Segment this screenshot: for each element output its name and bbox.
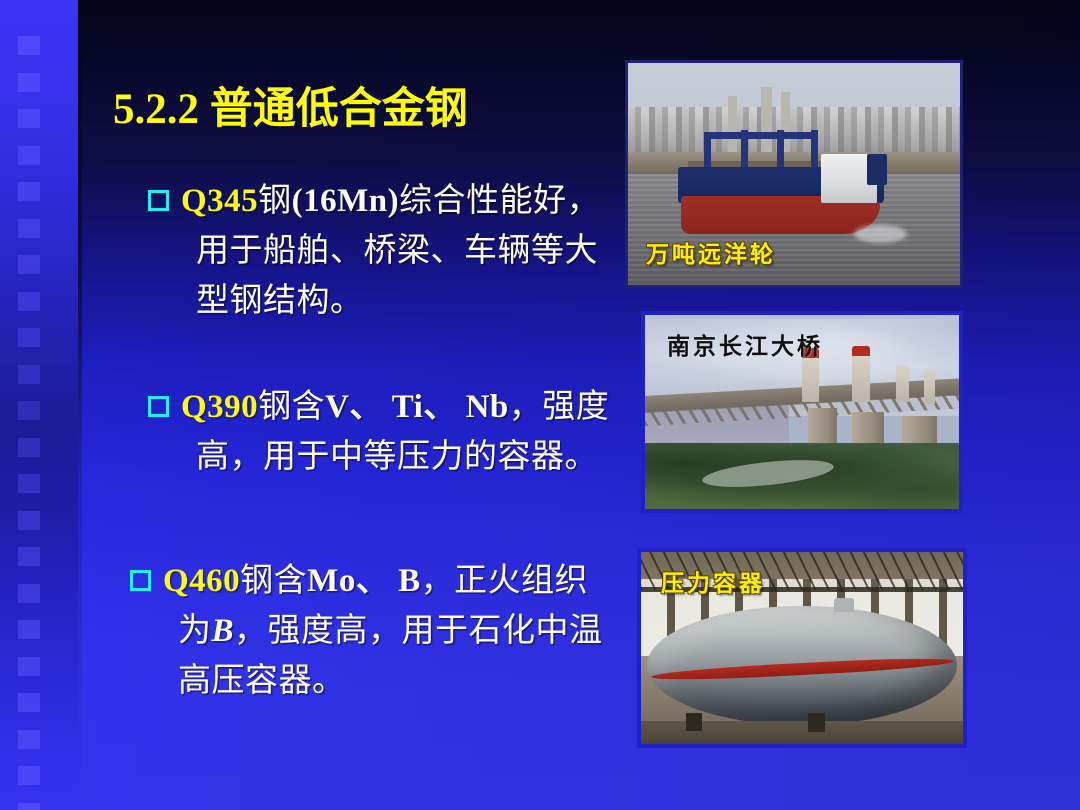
sidebar-square: [18, 182, 40, 201]
sidebar-square: [18, 365, 40, 384]
presentation-slide: 5.2.2 普通低合金钢 Q345钢(16Mn)综合性能好， 用于船舶、桥梁、车…: [0, 0, 1080, 810]
building: [761, 87, 772, 154]
bullet-text: ，正火组织: [421, 563, 589, 599]
ship-crane-boom: [704, 132, 814, 139]
sidebar-square: [18, 73, 40, 92]
sidebar-square: [18, 474, 40, 493]
sidebar-square: [18, 803, 40, 810]
steel-code-q390: Q390: [181, 389, 258, 425]
bullet-item-q345: Q345钢(16Mn)综合性能好， 用于船舶、桥梁、车辆等大 型钢结构。: [148, 176, 600, 326]
sidebar-square: [18, 657, 40, 676]
bullet-line: 型钢结构。: [148, 276, 600, 326]
bridge-pylon-far: [924, 369, 935, 404]
bullet-text-latin: V、 Ti、 Nb: [325, 389, 509, 425]
bullet-line: 高，用于中等压力的容器。: [148, 432, 609, 482]
sidebar-square: [18, 620, 40, 639]
pylon-red-top: [852, 346, 869, 356]
bridge-pylon: [802, 356, 819, 403]
bullet-line: 高压容器。: [130, 656, 603, 706]
sidebar-square: [18, 109, 40, 128]
bullet-text: 综合性能好，: [399, 183, 600, 219]
bullet-text: 钢: [258, 183, 292, 219]
bullet-line: Q345钢(16Mn)综合性能好，: [148, 176, 600, 226]
page-title: 5.2.2 普通低合金钢: [113, 86, 468, 133]
bullet-line: 用于船舶、桥梁、车辆等大: [148, 226, 600, 276]
photo-caption-vessel: 压力容器: [661, 564, 765, 598]
sidebar-square: [18, 730, 40, 749]
sidebar-square: [18, 219, 40, 238]
bullet-text: 钢含: [240, 563, 307, 599]
bullet-line: Q460钢含Mo、 B，正火组织: [130, 556, 603, 606]
sidebar-square: [18, 146, 40, 165]
bullet-text-italic: B: [212, 613, 235, 649]
bullet-text-latin: Mo、 B: [307, 563, 420, 599]
photo-nanjing-yangtze-bridge: 南京长江大桥: [641, 311, 963, 513]
sidebar-square: [18, 693, 40, 712]
sidebar-square: [18, 511, 40, 530]
sidebar-divider: [78, 0, 82, 810]
bullet-line: Q390钢含V、 Ti、 Nb，强度: [148, 382, 609, 432]
bullet-text-latin: (16Mn): [292, 183, 399, 219]
ship-funnel: [867, 154, 887, 185]
bullet-text: 为: [178, 613, 212, 649]
bullet-item-q390: Q390钢含V、 Ti、 Nb，强度 高，用于中等压力的容器。: [148, 382, 609, 482]
sidebar-square: [18, 36, 40, 55]
bullet-text: ，强度: [509, 389, 610, 425]
bullet-square-icon: [148, 396, 169, 417]
bullet-square-icon: [130, 570, 151, 591]
bullet-item-q460: Q460钢含Mo、 B，正火组织 为B，强度高，用于石化中温 高压容器。: [130, 556, 603, 706]
photo-ocean-cargo-ship: 万吨远洋轮: [625, 60, 963, 288]
bow-wave: [854, 225, 907, 243]
steel-code-q460: Q460: [163, 563, 240, 599]
tank-support: [808, 713, 824, 732]
photo-caption-bridge: 南京长江大桥: [667, 327, 823, 361]
sidebar-square-decoration: [18, 0, 40, 810]
photo-caption-ship: 万吨远洋轮: [646, 235, 776, 269]
sidebar-square: [18, 547, 40, 566]
sidebar-square: [18, 766, 40, 785]
sidebar-square: [18, 292, 40, 311]
sidebar-square: [18, 255, 40, 274]
steel-code-q345: Q345: [181, 183, 258, 219]
bullet-text: ，强度高，用于石化中温: [234, 613, 603, 649]
sidebar-square: [18, 328, 40, 347]
building: [728, 96, 737, 154]
bridge-pylon: [852, 354, 869, 403]
sidebar-square: [18, 438, 40, 457]
bridge-pylon-far: [896, 365, 909, 402]
photo-pressure-vessel: 压力容器: [637, 548, 967, 748]
tank-nozzle: [834, 598, 853, 611]
bullet-line: 为B，强度高，用于石化中温: [130, 606, 603, 656]
bullet-square-icon: [148, 190, 169, 211]
bullet-text: 钢含: [258, 389, 325, 425]
sidebar-square: [18, 401, 40, 420]
sidebar-square: [18, 584, 40, 603]
tank-support: [686, 713, 702, 730]
